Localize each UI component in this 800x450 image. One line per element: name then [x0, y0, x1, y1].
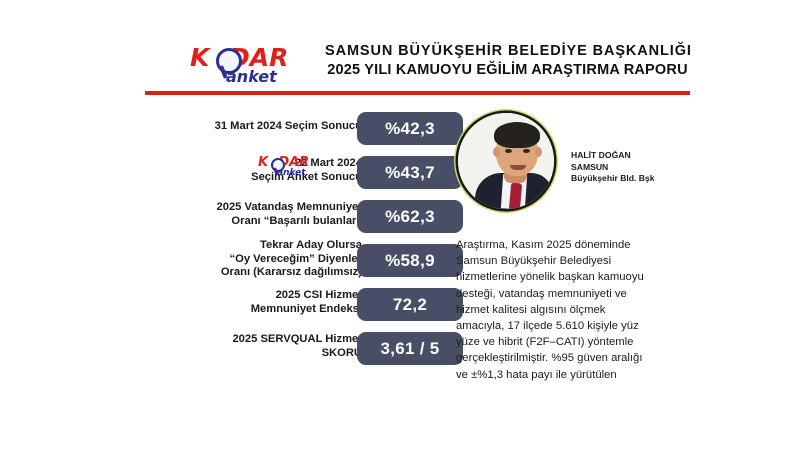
watermark-subtitle: anket	[277, 168, 306, 178]
kodar-anket-watermark-logo: KODAR anket	[258, 155, 320, 181]
portrait-hair	[494, 122, 540, 148]
watermark-letter-k: K	[258, 155, 267, 170]
result-value-pill: %62,3	[357, 200, 463, 233]
paragraph-line: Araştırma, Kasım 2025 döneminde	[456, 237, 690, 253]
portrait-caption: HALİT DOĞAN SAMSUN Büyükşehir Bld. Bşk	[571, 150, 683, 185]
result-label-line: Oranı “Başarılı bulanlar”	[177, 215, 362, 229]
result-label-line: Tekrar Aday Olursa	[177, 239, 362, 253]
result-value-pill: %43,7	[357, 156, 463, 189]
paragraph-line: hizmet kalitesi algısını ölçmek	[456, 302, 690, 318]
paragraph-line: yüze ve hibrit (F2F–CATI) yöntemle	[456, 334, 690, 350]
header-divider	[145, 91, 690, 95]
header-title-line-1: SAMSUN BÜYÜKŞEHİR BELEDİYE BAŞKANLIĞI	[325, 42, 690, 61]
report-header: KODAR anket SAMSUN BÜYÜKŞEHİR BELEDİYE B…	[145, 36, 690, 96]
portrait-mouth	[510, 165, 526, 170]
portrait-ear-right	[535, 147, 542, 157]
result-label-line: 2025 Vatandaş Memnuniyet	[177, 201, 362, 215]
portrait-eye-right	[523, 149, 530, 153]
paragraph-line: ve ±%1,3 hata payı ile yürütülen	[456, 367, 690, 383]
result-label: 2025 CSI Hizmet Memnuniyet Endeksi	[177, 289, 362, 316]
result-row: 22 Mart 2024 Seçim Anket Sonucu %43,7	[185, 154, 475, 198]
result-value-pill: 72,2	[357, 288, 463, 321]
paragraph-line: hizmetlerine yönelik başkan kamuoyu	[456, 269, 690, 285]
result-value-pill: %42,3	[357, 112, 463, 145]
result-label-line: Memnuniyet Endeksi	[177, 303, 362, 317]
portrait-eye-left	[505, 149, 512, 153]
result-label-line: 31 Mart 2024 Seçim Sonucu	[177, 120, 362, 134]
logo-letter-k: K	[190, 43, 208, 72]
paragraph-line: gerçekleştirilmiştir. %95 güven aralığı	[456, 350, 690, 366]
result-row: Tekrar Aday Olursa “Oy Vereceğim” Diyenl…	[185, 242, 475, 286]
result-label: Tekrar Aday Olursa “Oy Vereceğim” Diyenl…	[177, 239, 362, 280]
avatar	[458, 113, 554, 209]
result-label-line: 2025 SERVQUAL Hizmet	[177, 333, 362, 347]
portrait-title: Büyükşehir Bld. Bşk	[571, 173, 683, 185]
result-value-pill: 3,61 / 5	[357, 332, 463, 365]
portrait-block: HALİT DOĞAN SAMSUN Büyükşehir Bld. Bşk	[458, 113, 683, 213]
report-infographic: KODAR anket SAMSUN BÜYÜKŞEHİR BELEDİYE B…	[0, 0, 800, 450]
portrait-city: SAMSUN	[571, 162, 683, 174]
result-label-line: Oranı (Kararsız dağılımsız)	[177, 266, 362, 280]
result-label: 2025 SERVQUAL Hizmet SKORU	[177, 333, 362, 360]
result-row: 2025 CSI Hizmet Memnuniyet Endeksi 72,2	[185, 286, 475, 330]
header-titles: SAMSUN BÜYÜKŞEHİR BELEDİYE BAŞKANLIĞI 20…	[325, 42, 690, 80]
paragraph-line: Samsun Büyükşehir Belediyesi	[456, 253, 690, 269]
header-title-line-2: 2025 YILI KAMUOYU EĞİLİM ARAŞTIRMA RAPOR…	[325, 61, 690, 80]
result-label: 31 Mart 2024 Seçim Sonucu	[177, 120, 362, 134]
result-label-line: 2025 CSI Hizmet	[177, 289, 362, 303]
result-label-line: “Oy Vereceğim” Diyenler	[177, 253, 362, 267]
result-row: 2025 SERVQUAL Hizmet SKORU 3,61 / 5	[185, 330, 475, 374]
result-label: 2025 Vatandaş Memnuniyet Oranı “Başarılı…	[177, 201, 362, 228]
methodology-paragraph: Araştırma, Kasım 2025 döneminde Samsun B…	[456, 237, 690, 383]
result-value-pill: %58,9	[357, 244, 463, 277]
logo-subtitle: anket	[226, 67, 277, 86]
portrait-brow-left	[503, 143, 515, 146]
paragraph-line: desteği, vatandaş memnuniyeti ve	[456, 286, 690, 302]
paragraph-line: amacıyla, 17 ilçede 5.610 kişiyle yüz	[456, 318, 690, 334]
kodar-anket-logo: KODAR anket	[190, 41, 308, 89]
portrait-ear-left	[493, 147, 500, 157]
portrait-tie	[509, 183, 522, 209]
results-list: 31 Mart 2024 Seçim Sonucu %42,3 22 Mart …	[185, 110, 475, 374]
result-row: 2025 Vatandaş Memnuniyet Oranı “Başarılı…	[185, 198, 475, 242]
result-label-line: SKORU	[177, 347, 362, 361]
result-row: 31 Mart 2024 Seçim Sonucu %42,3	[185, 110, 475, 154]
portrait-name: HALİT DOĞAN	[571, 150, 683, 162]
portrait-brow-right	[521, 143, 533, 146]
